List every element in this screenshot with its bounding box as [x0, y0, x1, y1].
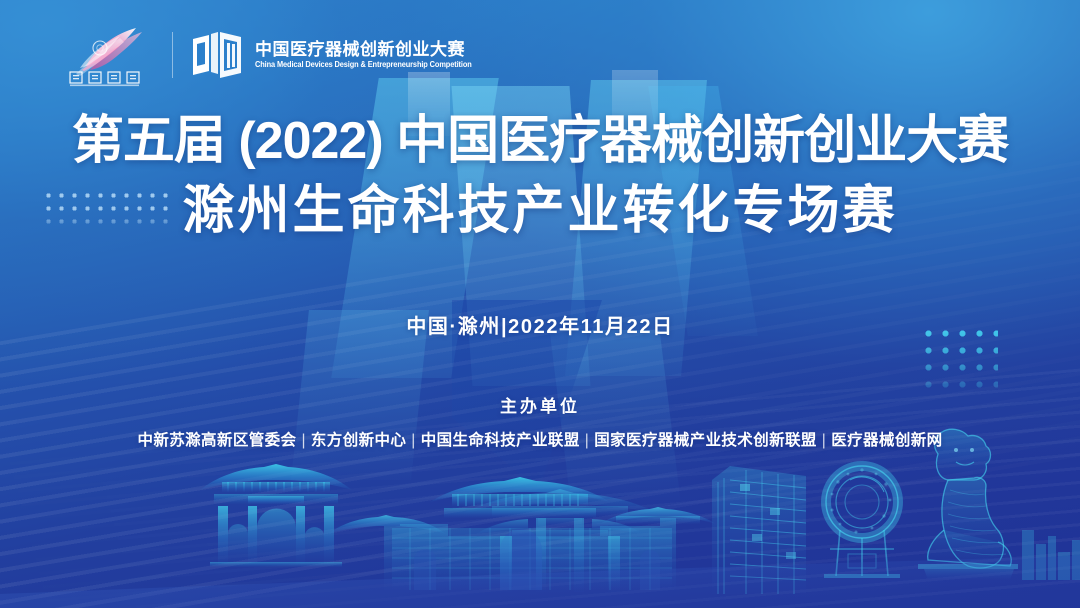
organizer-separator: |	[580, 432, 594, 449]
logo-innovation-china[interactable]	[62, 22, 154, 88]
logo-divider	[172, 32, 173, 78]
organizer-item: 东方创新中心	[311, 432, 406, 449]
organizer-item: 中国生命科技产业联盟	[421, 432, 580, 449]
chinese-pavilion-icon	[200, 464, 352, 567]
merlion-statue-icon	[918, 429, 1018, 580]
organizers-list: 中新苏滁高新区管委会|东方创新中心|中国生命科技产业联盟|国家医疗器械产业技术创…	[0, 428, 1080, 450]
competition-name-cn: 中国医疗器械创新创业大赛	[255, 41, 472, 60]
organizer-separator: |	[817, 432, 831, 449]
organizers-label: 主办单位	[0, 392, 1080, 417]
header-logos: 中国医疗器械创新创业大赛 China Medical Devices Desig…	[62, 22, 472, 88]
organizer-item: 中新苏滁高新区管委会	[137, 432, 296, 449]
ring-sculpture-icon	[824, 466, 900, 578]
page-title-line-1: 第五届 (2022) 中国医疗器械创新创业大赛	[0, 112, 1080, 170]
page-title-line-2: 滁州生命科技产业转化专场赛	[0, 182, 1080, 240]
event-banner: 中国医疗器械创新创业大赛 China Medical Devices Desig…	[0, 0, 1080, 608]
organizer-separator: |	[296, 432, 310, 449]
organizer-item: 国家医疗器械产业技术创新联盟	[594, 432, 817, 449]
open-book-window-icon	[191, 31, 243, 79]
organizer-separator: |	[406, 432, 420, 449]
hero-titles: 第五届 (2022) 中国医疗器械创新创业大赛 滁州生命科技产业转化专场赛	[0, 112, 1080, 240]
organizer-item: 医疗器械创新网	[831, 432, 942, 449]
logo-competition[interactable]: 中国医疗器械创新创业大赛 China Medical Devices Desig…	[191, 31, 472, 79]
competition-name-en: China Medical Devices Design & Entrepren…	[255, 61, 472, 70]
bird-innovation-icon	[62, 22, 154, 88]
location-date: 中国·滁州|2022年11月22日	[0, 310, 1080, 339]
